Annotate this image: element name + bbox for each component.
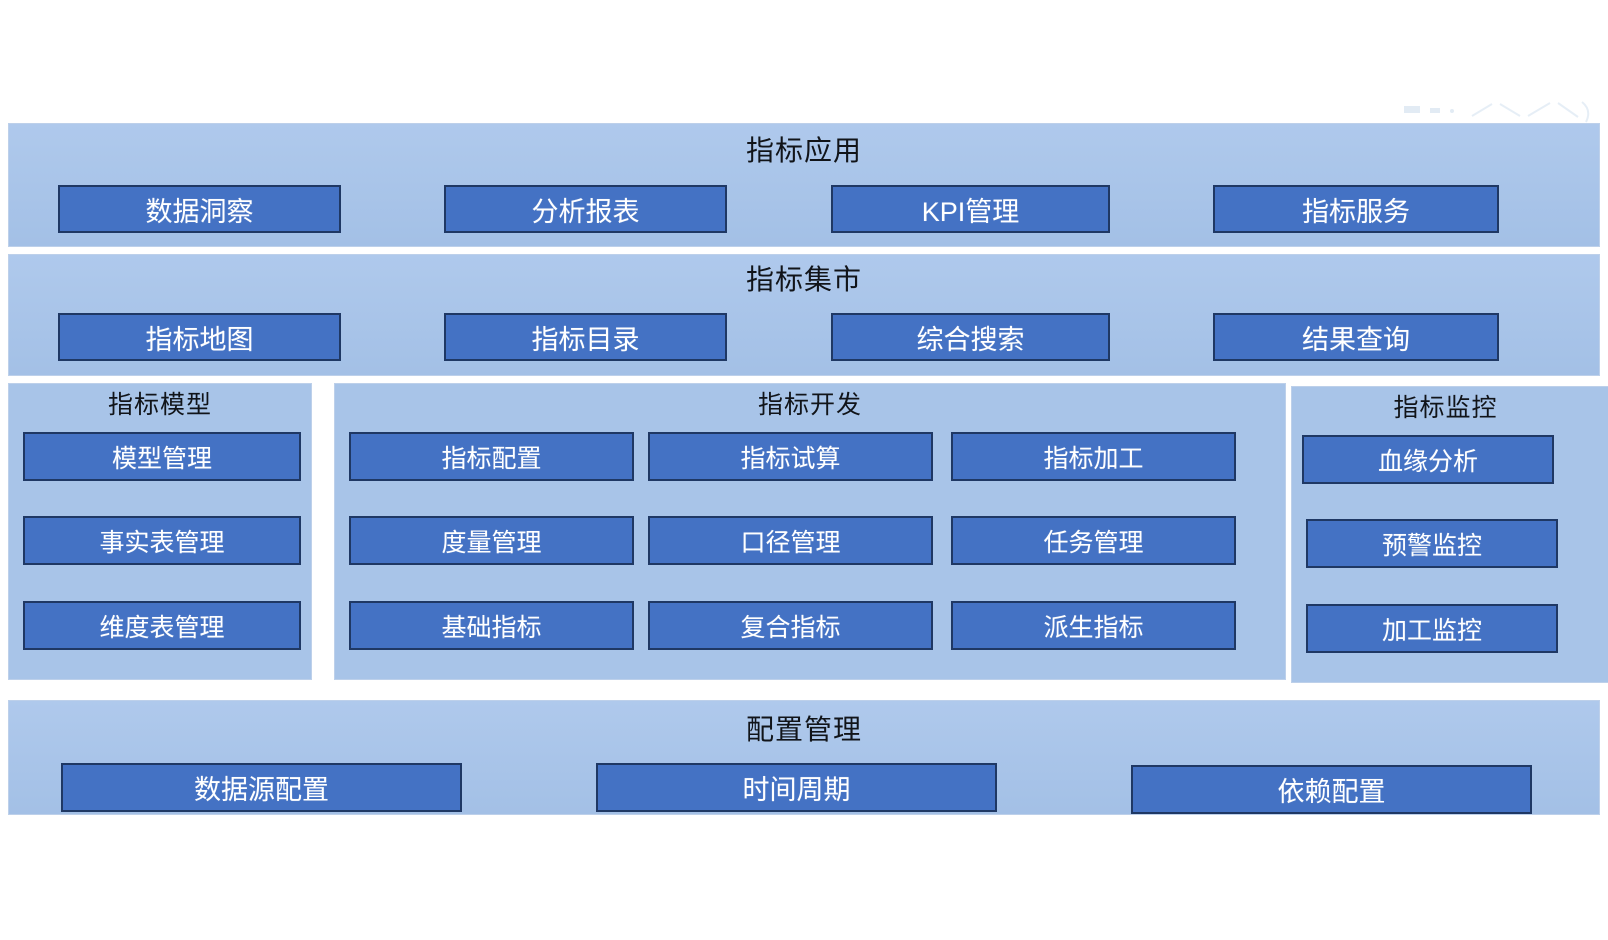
layer-indicator-monitoring: 指标监控 血缘分析 预警监控 加工监控 xyxy=(1291,386,1608,683)
module-button-shujudongcha[interactable]: 数据洞察 xyxy=(58,185,341,233)
module-button-paishengzhibiao[interactable]: 派生指标 xyxy=(951,601,1236,650)
layer-indicator-development: 指标开发 指标配置 指标试算 指标加工 度量管理 口径管理 任务管理 基础指标 … xyxy=(334,383,1286,680)
module-button-zhibiaofuwu[interactable]: 指标服务 xyxy=(1213,185,1499,233)
layer-indicator-market: 指标集市 指标地图 指标目录 综合搜索 结果查询 xyxy=(8,254,1600,376)
module-button-kpiguanli[interactable]: KPI管理 xyxy=(831,185,1110,233)
module-button-zhibiaojiagong[interactable]: 指标加工 xyxy=(951,432,1236,481)
layer-title-indicator-development: 指标开发 xyxy=(335,392,1285,419)
module-button-xueyuanfenxi[interactable]: 血缘分析 xyxy=(1302,435,1554,484)
layer-title-indicator-model: 指标模型 xyxy=(9,392,311,419)
module-button-zhibiaomulu[interactable]: 指标目录 xyxy=(444,313,727,361)
layer-indicator-application: 指标应用 数据洞察 分析报表 KPI管理 指标服务 xyxy=(8,123,1600,247)
module-button-zhibiaoshisuan[interactable]: 指标试算 xyxy=(648,432,933,481)
module-button-shishibiaoguanli[interactable]: 事实表管理 xyxy=(23,516,301,565)
module-button-yujingjiankong[interactable]: 预警监控 xyxy=(1306,519,1558,568)
module-button-zhibiaoditu[interactable]: 指标地图 xyxy=(58,313,341,361)
module-button-shujuyuanpeizhi[interactable]: 数据源配置 xyxy=(61,763,462,812)
module-button-koujingguanli[interactable]: 口径管理 xyxy=(648,516,933,565)
module-button-weidubiaoguanli[interactable]: 维度表管理 xyxy=(23,601,301,650)
module-button-jichuzhibiao[interactable]: 基础指标 xyxy=(349,601,634,650)
module-button-jieguochaxun[interactable]: 结果查询 xyxy=(1213,313,1499,361)
module-button-jiagongjiankong[interactable]: 加工监控 xyxy=(1306,604,1558,653)
module-button-yilaipeizhi[interactable]: 依赖配置 xyxy=(1131,765,1532,814)
module-button-fuhezhibiao[interactable]: 复合指标 xyxy=(648,601,933,650)
layer-indicator-model: 指标模型 模型管理 事实表管理 维度表管理 xyxy=(8,383,312,680)
module-button-renwuguanli[interactable]: 任务管理 xyxy=(951,516,1236,565)
layer-title-indicator-market: 指标集市 xyxy=(9,265,1599,295)
layer-configuration-management: 配置管理 数据源配置 时间周期 依赖配置 xyxy=(8,700,1600,815)
module-button-duliangguanli[interactable]: 度量管理 xyxy=(349,516,634,565)
module-button-shijianzhouqi[interactable]: 时间周期 xyxy=(596,763,997,812)
module-button-zhibiaopeizhi[interactable]: 指标配置 xyxy=(349,432,634,481)
layer-title-indicator-application: 指标应用 xyxy=(9,136,1599,166)
layer-title-configuration-management: 配置管理 xyxy=(9,715,1599,745)
module-button-moxingguanli[interactable]: 模型管理 xyxy=(23,432,301,481)
module-button-zongheshousuo[interactable]: 综合搜索 xyxy=(831,313,1110,361)
layer-title-indicator-monitoring: 指标监控 xyxy=(1292,395,1599,422)
module-button-fenxibaobiao[interactable]: 分析报表 xyxy=(444,185,727,233)
